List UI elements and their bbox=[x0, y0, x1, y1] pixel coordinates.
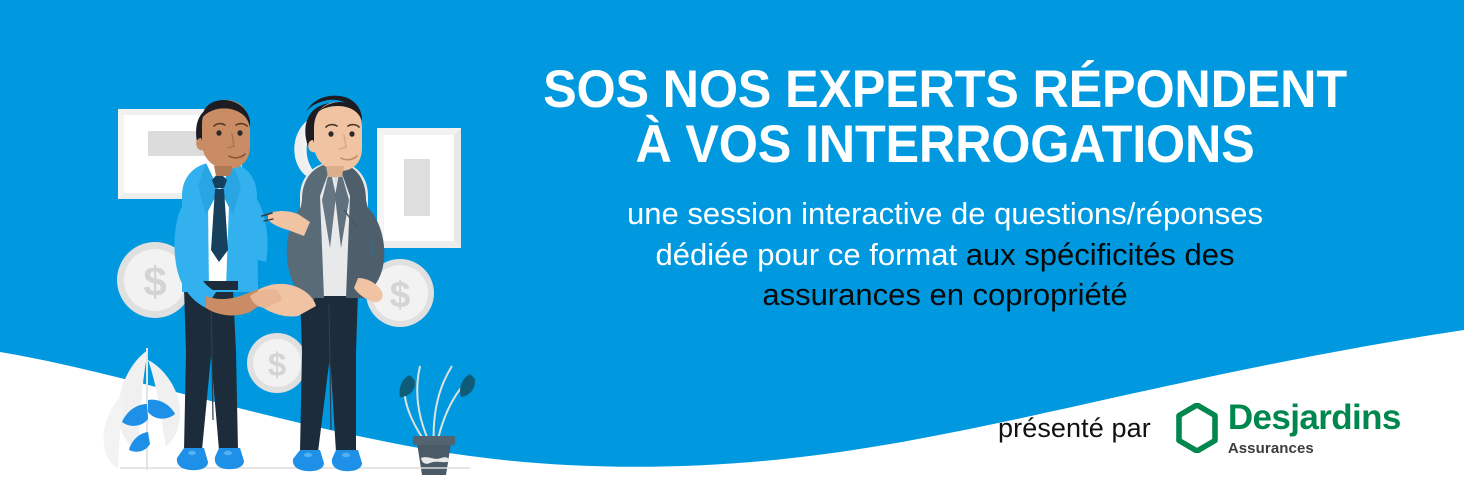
subheadline-part-2: dédiée pour ce format bbox=[656, 237, 966, 272]
subheadline-accent-1: aux spécificités des bbox=[966, 237, 1235, 272]
presenter-section: présenté par Desjardins Assurances bbox=[998, 400, 1401, 456]
presented-by-label: présenté par bbox=[998, 413, 1151, 444]
svg-text:$: $ bbox=[268, 346, 286, 383]
desjardins-logo[interactable]: Desjardins Assurances bbox=[1175, 400, 1401, 456]
logo-subtitle: Assurances bbox=[1228, 441, 1401, 456]
copy-block: SOS NOS EXPERTS RÉPONDENT À VOS INTERROG… bbox=[500, 62, 1390, 315]
svg-text:$: $ bbox=[390, 274, 411, 315]
logo-wordmark: Desjardins bbox=[1228, 400, 1401, 435]
promo-banner: $ $ $ bbox=[0, 0, 1464, 488]
subheadline-accent-2: assurances en copropriété bbox=[762, 277, 1127, 312]
coin-dollar-medium-icon: $ bbox=[247, 333, 307, 393]
person-right-figure bbox=[250, 96, 384, 472]
headline-line-2: À VOS INTERROGATIONS bbox=[522, 117, 1368, 172]
picture-frame-portrait-icon bbox=[377, 128, 461, 248]
handshake-illustration: $ $ $ bbox=[0, 0, 520, 488]
subheadline-part-1: une session interactive de questions/rép… bbox=[627, 196, 1263, 231]
hexagon-outline-icon bbox=[1175, 403, 1219, 453]
decorative-leaf-icon bbox=[104, 348, 180, 470]
page-title: SOS NOS EXPERTS RÉPONDENT À VOS INTERROG… bbox=[522, 62, 1368, 172]
potted-plant-icon bbox=[399, 366, 475, 475]
headline-line-1: SOS NOS EXPERTS RÉPONDENT bbox=[522, 62, 1368, 117]
subheadline: une session interactive de questions/rép… bbox=[500, 194, 1390, 315]
svg-text:$: $ bbox=[143, 258, 166, 305]
